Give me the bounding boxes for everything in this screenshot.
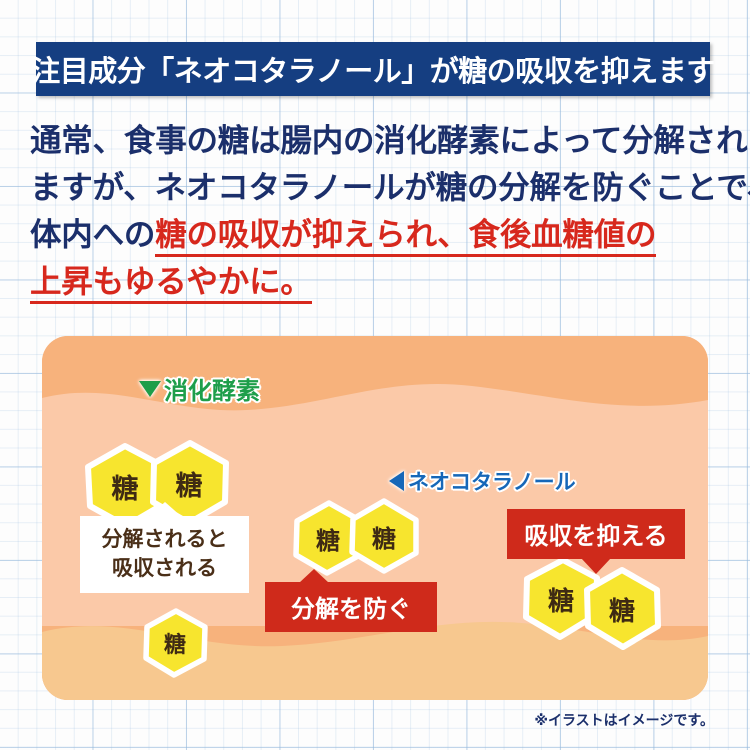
sugar-token-bottom-left: 糖 [140, 608, 210, 678]
triangle-down-icon [139, 381, 161, 397]
neocotalanol-label: ネオコタラノール [389, 466, 576, 496]
body-copy-line-3-highlight: 糖の吸収が抑えられ、食後血糖値の [155, 217, 656, 257]
body-copy: 通常、食事の糖は腸内の消化酵素によって分解され ますが、ネオコタラノールが糖の分… [30, 118, 730, 306]
footnote: ※イラストはイメージです。 [534, 710, 714, 730]
sugar-token-mid-b: 糖 [346, 498, 422, 574]
body-copy-line-2: ますが、ネオコタラノールが糖の分解を防ぐことで、 [30, 165, 730, 212]
body-copy-line-4-highlight: 上昇もゆるやかに。 [30, 264, 312, 304]
block-breakdown-text: 分解を防ぐ [291, 595, 411, 623]
page-title: 注目成分「ネオコタラノール」が糖の吸収を抑えます [31, 48, 714, 90]
callout-notch-icon [148, 502, 182, 517]
body-copy-line-1: 通常、食事の糖は腸内の消化酵素によって分解され [30, 118, 730, 165]
sugar-token-right-b: 糖 [580, 567, 664, 651]
label-tail-down-icon [581, 558, 611, 574]
label-tail-up-icon [299, 569, 329, 583]
body-copy-line-3-plain: 体内への [30, 217, 155, 253]
digestion-callout: 分解されると 吸収される [80, 516, 249, 593]
block-breakdown-label: 分解を防ぐ [265, 582, 437, 632]
enzyme-label-text: 消化酵素 [164, 371, 260, 406]
neocotalanol-label-text: ネオコタラノール [408, 466, 576, 496]
suppress-absorption-text: 吸収を抑える [524, 522, 667, 550]
digestion-callout-line-1: 分解されると [86, 525, 243, 554]
suppress-absorption-label: 吸収を抑える [507, 509, 685, 559]
digestion-callout-line-2: 吸収される [86, 554, 243, 583]
header-banner: 注目成分「ネオコタラノール」が糖の吸収を抑えます [36, 42, 710, 96]
page-root: 注目成分「ネオコタラノール」が糖の吸収を抑えます 通常、食事の糖は腸内の消化酵素… [0, 0, 750, 750]
body-copy-line-4: 上昇もゆるやかに。 [30, 259, 730, 306]
body-copy-line-3: 体内への糖の吸収が抑えられ、食後血糖値の [30, 212, 730, 259]
triangle-left-icon [389, 471, 404, 491]
enzyme-label: 消化酵素 [139, 371, 260, 406]
